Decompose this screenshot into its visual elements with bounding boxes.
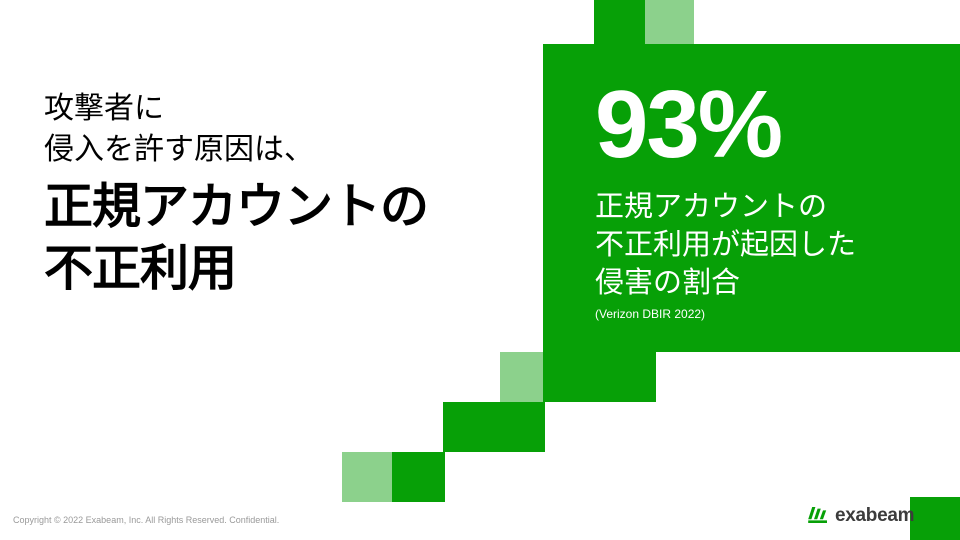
statistic-value: 93% (595, 80, 944, 170)
statistic-caption-line-2: 不正利用が起因した (595, 226, 944, 264)
decor-square-top-dark (594, 0, 645, 44)
headline-lead-line-1: 攻撃者に (44, 88, 514, 129)
decor-step1-light (500, 352, 543, 402)
exabeam-logo-text: exabeam (835, 506, 914, 525)
statistic-source: (Verizon DBIR 2022) (595, 306, 944, 322)
headline-emphasis-group: 正規アカウントの 不正利用 (44, 176, 514, 300)
decor-step2-dark (443, 402, 545, 452)
statistic-panel: 93% 正規アカウントの 不正利用が起因した 侵害の割合 (Verizon DB… (543, 44, 960, 352)
copyright-text: Copyright © 2022 Exabeam, Inc. All Right… (13, 514, 279, 526)
statistic-caption: 正規アカウントの 不正利用が起因した 侵害の割合 (595, 188, 944, 302)
statistic-caption-line-3: 侵害の割合 (595, 264, 944, 302)
headline-emphasis-line-2: 不正利用 (44, 238, 514, 300)
decor-step1-dark (543, 352, 656, 402)
decor-square-corner (910, 497, 960, 540)
statistic-caption-line-1: 正規アカウントの (595, 188, 944, 226)
decor-step3-dark (392, 452, 445, 502)
exabeam-logo: exabeam (808, 503, 914, 527)
headline-lead-line-2: 侵入を許す原因は、 (44, 129, 514, 170)
headline-block: 攻撃者に 侵入を許す原因は、 正規アカウントの 不正利用 (44, 88, 514, 300)
statistic-content: 93% 正規アカウントの 不正利用が起因した 侵害の割合 (Verizon DB… (595, 80, 944, 322)
exabeam-logo-mark-icon (808, 506, 830, 524)
headline-emphasis-line-1: 正規アカウントの (44, 176, 514, 238)
decor-step3-light (342, 452, 392, 502)
decor-square-top-light (645, 0, 694, 44)
slide-canvas: 攻撃者に 侵入を許す原因は、 正規アカウントの 不正利用 93% 正規アカウント… (0, 0, 960, 540)
